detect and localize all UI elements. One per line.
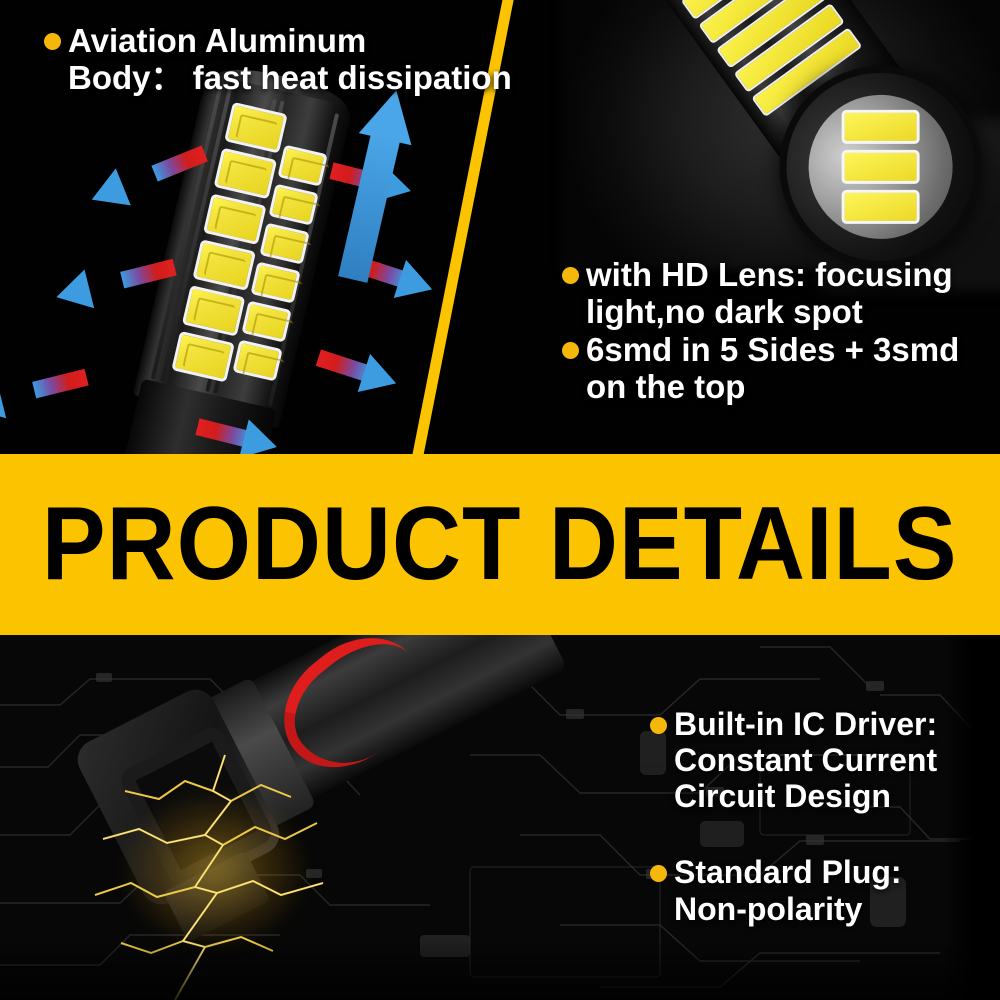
bullet-dot-icon: [650, 865, 667, 882]
bullet-line: with HD Lens: focusing: [562, 256, 959, 293]
bullet-2-line-2: Non-polarity: [650, 891, 937, 927]
smd-chip: [171, 331, 235, 383]
smd-chip: [268, 184, 318, 226]
bullet-line: Built-in IC Driver:: [650, 706, 937, 742]
smd-chip-top: [842, 150, 920, 184]
feature-detail: Body： fast heat dissipation: [44, 59, 512, 96]
bullet-1-line-1: with HD Lens: focusing: [586, 256, 953, 293]
product-details-banner: PRODUCT DETAILS: [0, 454, 1000, 635]
page-title: PRODUCT DETAILS: [42, 485, 958, 604]
bullet-2-line-2: on the top: [562, 368, 959, 405]
bottom-section: Built-in IC Driver: Constant Current Cir…: [0, 635, 1000, 1000]
smd-chip: [192, 239, 256, 291]
smd-chip-top: [842, 190, 920, 224]
smd-chip: [277, 145, 327, 187]
bullet-dot-icon: [562, 342, 579, 359]
top-smd-group: [842, 110, 920, 224]
bullet-line: Standard Plug:: [650, 854, 937, 890]
heat-arrow-left: [0, 358, 94, 419]
bullet-group-2: Standard Plug: Non-polarity: [650, 854, 937, 926]
smd-chip: [182, 285, 246, 337]
feature-text-hd-lens: with HD Lens: focusing light,no dark spo…: [562, 256, 959, 405]
smd-chip: [250, 262, 300, 304]
bullet-line: 6smd in 5 Sides + 3smd: [562, 331, 959, 368]
smd-chip: [259, 223, 309, 265]
bullet-dot-icon: [562, 267, 579, 284]
bullet-1-line-2: Constant Current: [650, 742, 937, 778]
bullet-dot-icon: [44, 33, 61, 50]
bullet-1-line-3: Circuit Design: [650, 778, 937, 814]
bullet-2-line-1: 6smd in 5 Sides + 3smd: [586, 331, 959, 368]
product-detail-image: Aviation Aluminum Body： fast heat dissip…: [0, 0, 1000, 1000]
smd-chip: [241, 301, 291, 343]
smd-chip: [203, 193, 267, 245]
bullet-1-line-1: Built-in IC Driver:: [674, 706, 937, 742]
bottom-edge-vignette: [0, 940, 1000, 1000]
bullet-dot-icon: [650, 717, 667, 734]
feature-text-ic-driver: Built-in IC Driver: Constant Current Cir…: [650, 706, 937, 927]
feature-label: Aviation Aluminum: [68, 22, 366, 59]
bullet-2-line-1: Standard Plug:: [674, 854, 902, 890]
electric-glow: [120, 790, 310, 950]
bullet-1-line-2: light,no dark spot: [562, 293, 959, 330]
smd-chip-top: [842, 110, 920, 144]
smd-chip: [214, 148, 278, 200]
feature-text-aviation-aluminum: Aviation Aluminum Body： fast heat dissip…: [44, 22, 512, 97]
smd-chip: [232, 339, 282, 381]
bullet-line: Aviation Aluminum: [44, 22, 512, 59]
top-section: Aviation Aluminum Body： fast heat dissip…: [0, 0, 1000, 455]
